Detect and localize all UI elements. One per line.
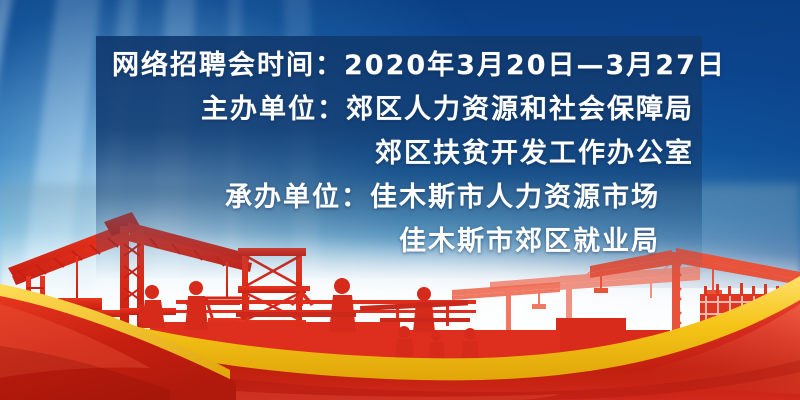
poster-line-host-1: 承办单位：佳木斯市人力资源市场: [96, 176, 702, 220]
poster-line-event-time: 网络招聘会时间：2020年3月20日—3月27日: [96, 44, 702, 88]
poster-line-organizer-2: 郊区扶贫开发工作办公室: [96, 132, 702, 176]
recruitment-poster: 网络招聘会时间：2020年3月20日—3月27日 主办单位：郊区人力资源和社会保…: [0, 0, 800, 400]
poster-text-block: 网络招聘会时间：2020年3月20日—3月27日 主办单位：郊区人力资源和社会保…: [96, 36, 702, 284]
red-flag-left: [0, 250, 260, 400]
poster-line-organizer-1: 主办单位：郊区人力资源和社会保障局: [96, 88, 702, 132]
